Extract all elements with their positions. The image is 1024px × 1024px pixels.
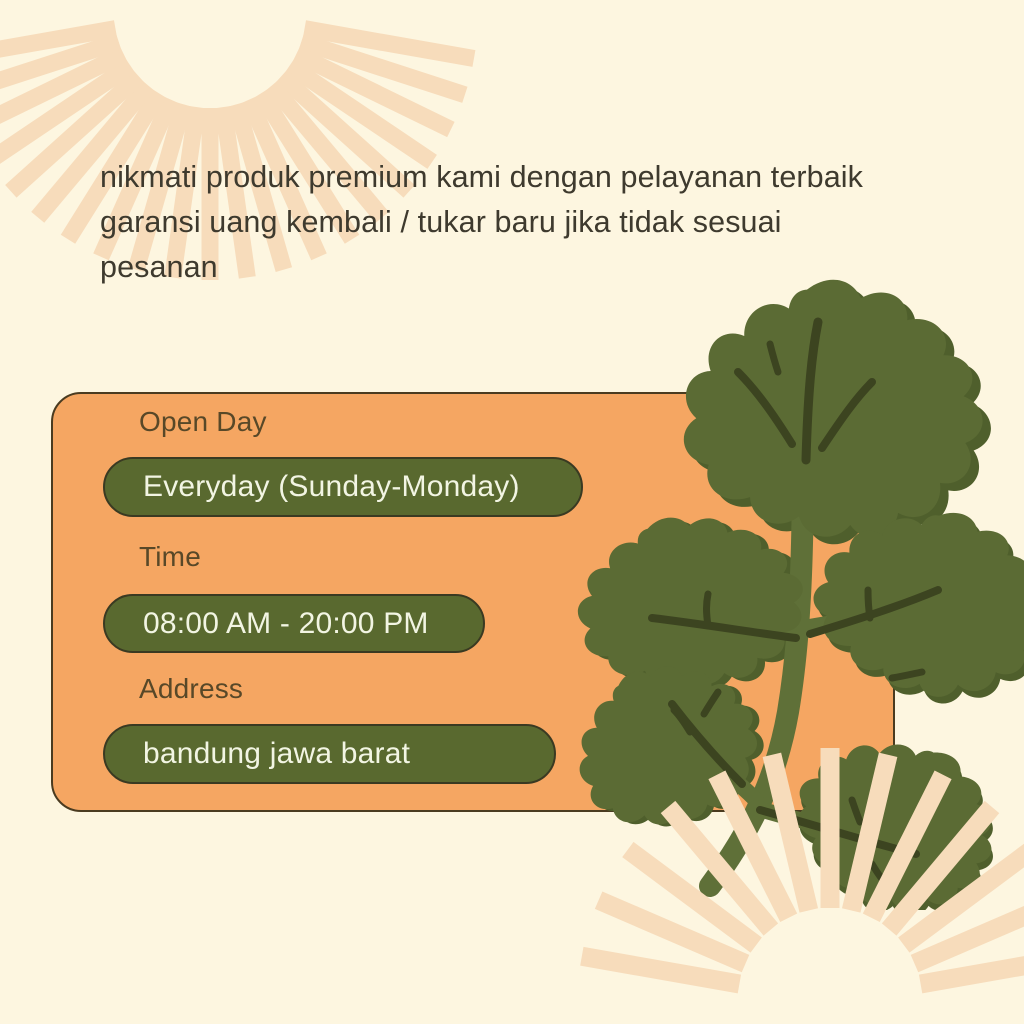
address-value: bandung jawa barat — [105, 739, 410, 769]
time-value: 08:00 AM - 20:00 PM — [105, 609, 429, 639]
headline-text: nikmati produk premium kami dengan pelay… — [100, 155, 920, 290]
address-label: Address — [139, 675, 243, 703]
open-day-value: Everyday (Sunday-Monday) — [105, 472, 520, 502]
open-day-value-pill[interactable]: Everyday (Sunday-Monday) — [103, 457, 583, 517]
open-day-label: Open Day — [139, 408, 267, 436]
poster-canvas: nikmati produk premium kami dengan pelay… — [0, 0, 1024, 1024]
time-value-pill[interactable]: 08:00 AM - 20:00 PM — [103, 594, 485, 653]
address-value-pill[interactable]: bandung jawa barat — [103, 724, 556, 784]
time-label: Time — [139, 543, 201, 571]
